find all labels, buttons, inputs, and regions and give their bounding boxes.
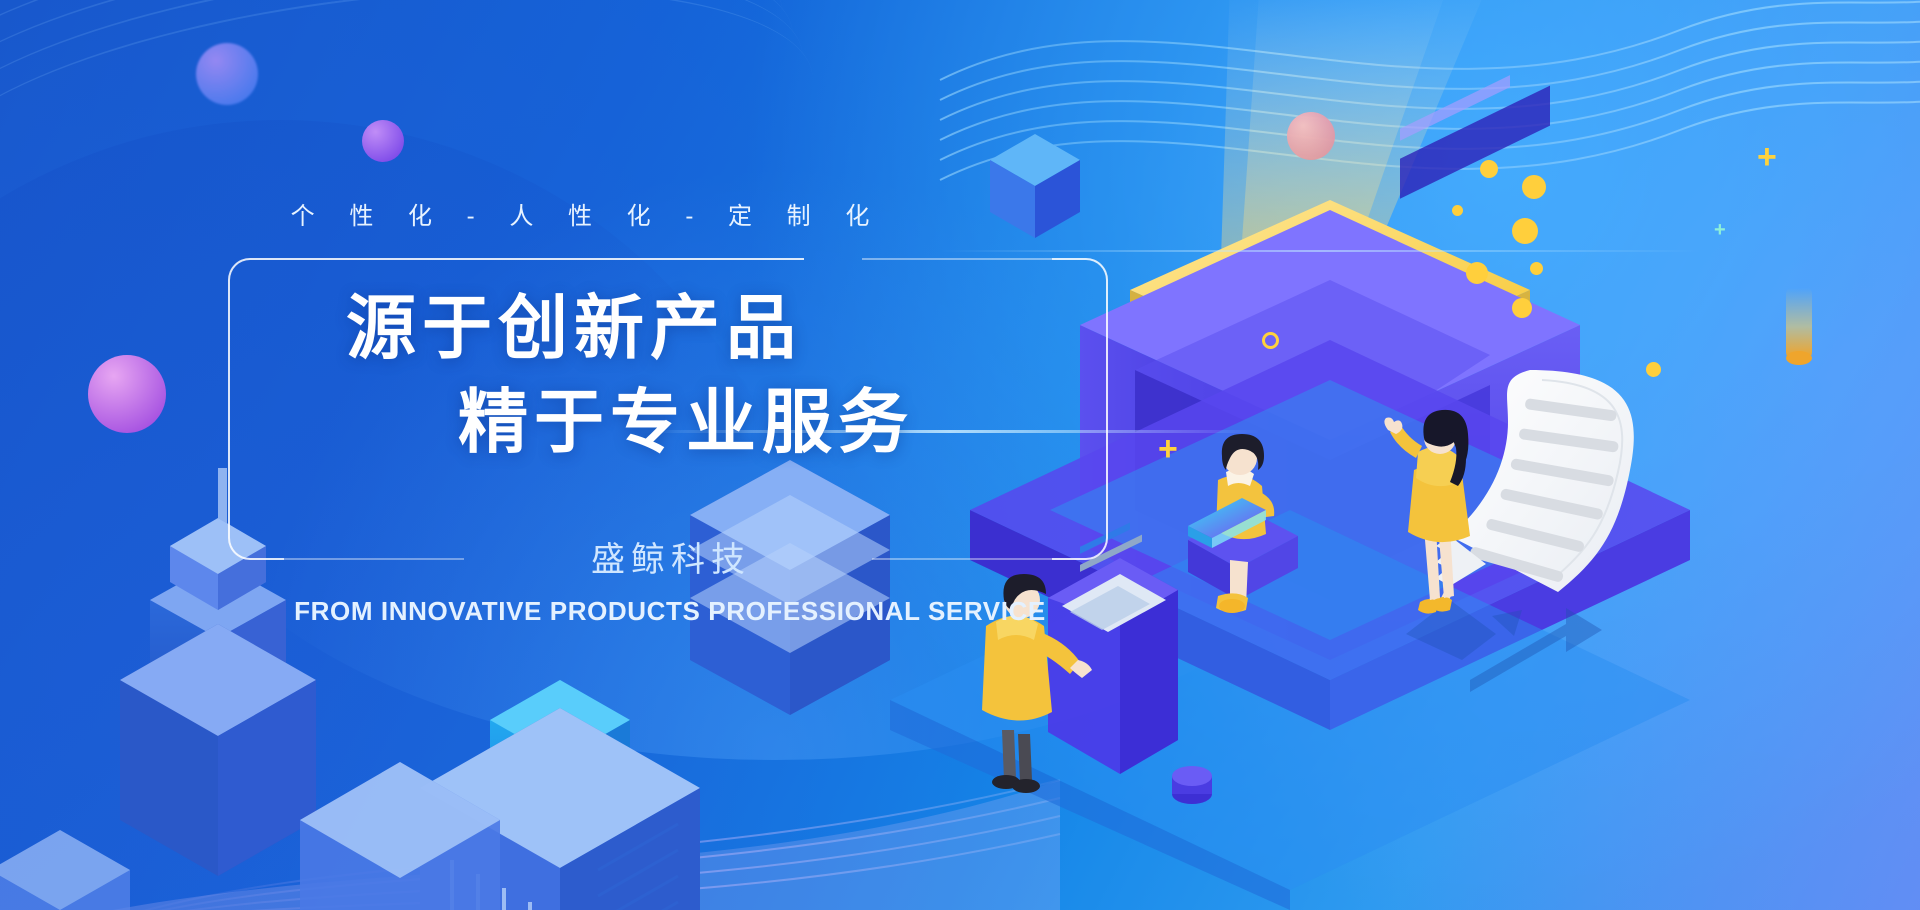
decorative-orb-magenta: [88, 355, 166, 433]
confetti-dot: [1512, 218, 1538, 244]
circle-outline-icon: [1262, 332, 1279, 349]
confetti-dot: [1512, 298, 1532, 318]
company-name: 盛鲸科技: [228, 532, 1108, 581]
hero-banner: + + + 个 性 化 - 人 性 化 - 定 制 化 源于创新产品 精于专业服…: [0, 0, 1920, 910]
sheen-line-top: [940, 250, 1700, 252]
plus-icon: +: [1757, 140, 1777, 174]
gold-cylinder-icon: [1786, 288, 1812, 358]
confetti-dot: [1452, 205, 1463, 216]
headline-line-1: 源于创新产品: [228, 282, 1108, 376]
plus-icon: +: [1158, 432, 1178, 466]
plus-icon-small: +: [1714, 220, 1726, 240]
confetti-dot: [1522, 175, 1546, 199]
bottom-wave-sweep: [0, 630, 1060, 910]
decorative-orb-blue: [196, 43, 258, 105]
confetti-dot: [1480, 160, 1498, 178]
confetti-dot: [1530, 262, 1543, 275]
confetti-dot: [1646, 362, 1661, 377]
decorative-orb-purple: [362, 120, 404, 162]
english-subtitle: FROM INNOVATIVE PRODUCTS PROFESSIONAL SE…: [170, 596, 1170, 627]
headline: 源于创新产品 精于专业服务: [228, 282, 1108, 470]
headline-line-2: 精于专业服务: [228, 376, 1108, 470]
tagline: 个 性 化 - 人 性 化 - 定 制 化: [0, 196, 1160, 231]
confetti-dot: [1466, 262, 1488, 284]
small-cylinder: [1172, 766, 1212, 804]
